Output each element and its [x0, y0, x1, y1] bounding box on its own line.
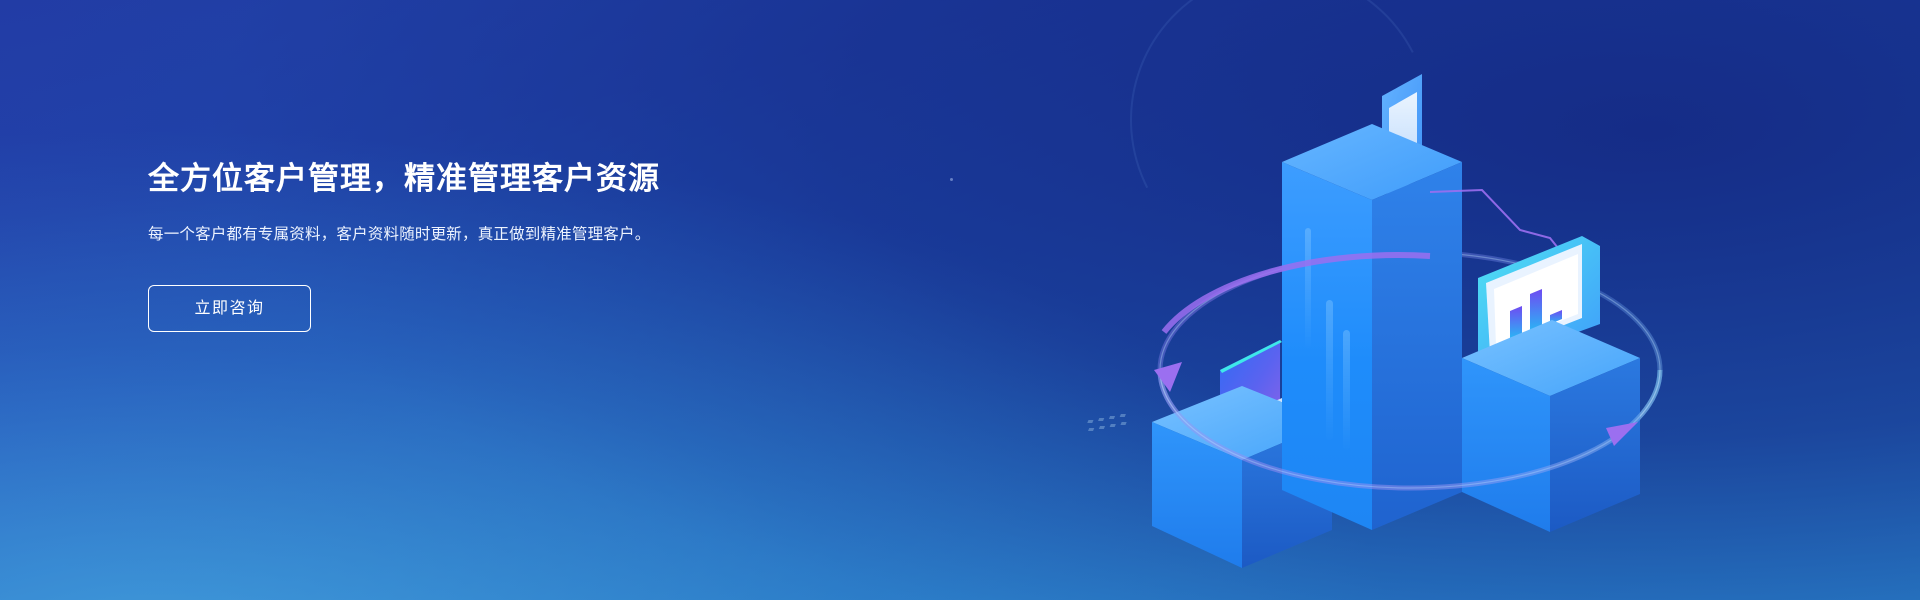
hero-illustration	[1130, 40, 1690, 570]
banner-description: 每一个客户都有专属资料，客户资料随时更新，真正做到精准管理客户。	[148, 222, 748, 247]
hero-banner: 全方位客户管理，精准管理客户资源 每一个客户都有专属资料，客户资料随时更新，真正…	[0, 0, 1920, 600]
banner-copy: 全方位客户管理，精准管理客户资源 每一个客户都有专属资料，客户资料随时更新，真正…	[148, 160, 788, 332]
decorative-speck	[950, 178, 953, 181]
page-title: 全方位客户管理，精准管理客户资源	[148, 160, 788, 199]
pillar-center	[1282, 74, 1462, 530]
consult-now-button[interactable]: 立即咨询	[148, 285, 311, 332]
